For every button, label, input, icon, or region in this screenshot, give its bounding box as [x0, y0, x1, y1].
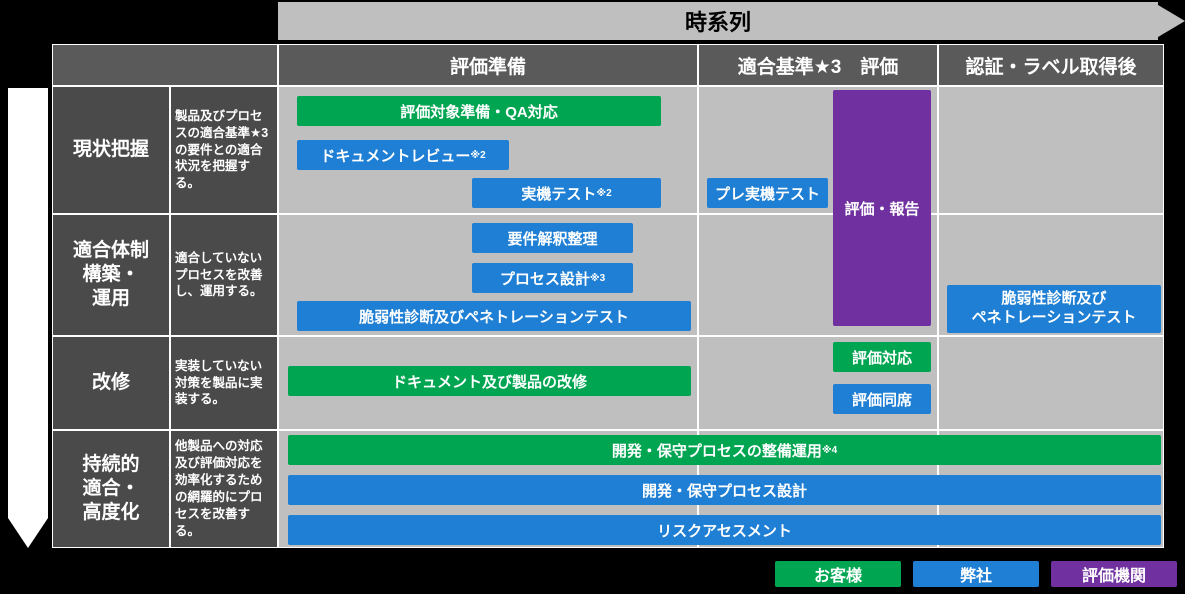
timeline-label: 時系列: [278, 2, 1158, 40]
bar-vulnerability-pentest[interactable]: 脆弱性診断及びペネトレーションテスト: [297, 301, 691, 331]
grid-cell-1-post: [938, 86, 1164, 214]
diagram-root: 時系列 フ ェ ー ズ 評価準備 適合基準★3 評価 認証・ラベル取得後 現状把…: [0, 0, 1185, 594]
bar-note: ※4: [822, 445, 837, 456]
bar-note: ※2: [470, 150, 485, 161]
bar-document-product-remediation[interactable]: ドキュメント及び製品の改修: [288, 366, 691, 396]
header-column-evaluation: 適合基準★3 評価: [698, 44, 938, 86]
phase-cell-3: 改修: [52, 336, 170, 430]
bar-label: プロセス設計: [500, 268, 590, 289]
bar-actual-machine-test[interactable]: 実機テスト※2: [472, 178, 661, 208]
phase-axis-label: フ ェ ー ズ: [12, 200, 42, 278]
bar-label: 評価対象準備・QA対応: [400, 101, 558, 122]
legend-label: 弊社: [960, 562, 992, 586]
bar-label: 脆弱性診断及び ペネトレーションテスト: [972, 290, 1137, 328]
phase-axis-arrow: [8, 88, 48, 548]
bar-label: 開発・保守プロセス設計: [642, 480, 807, 501]
header-column-post-certification: 認証・ラベル取得後: [938, 44, 1164, 86]
legend-label: お客様: [814, 562, 862, 586]
bar-vulnerability-pentest-post[interactable]: 脆弱性診断及び ペネトレーションテスト: [947, 285, 1161, 333]
bar-note: ※2: [596, 188, 611, 199]
bar-label: ドキュメント及び製品の改修: [392, 371, 587, 392]
bar-label: プレ実機テスト: [715, 183, 820, 204]
phase-cell-4: 持続的 適合・ 高度化: [52, 430, 170, 548]
grid-cell-3-post: [938, 336, 1164, 430]
bar-dev-maintenance-process-design[interactable]: 開発・保守プロセス設計: [288, 475, 1161, 505]
bar-qa-preparation[interactable]: 評価対象準備・QA対応: [297, 96, 661, 126]
bar-label: リスクアセスメント: [657, 520, 792, 541]
bar-label: 評価対応: [852, 347, 912, 368]
bar-label: 脆弱性診断及びペネトレーションテスト: [359, 306, 629, 327]
bar-requirement-interpretation[interactable]: 要件解釈整理: [472, 223, 633, 253]
legend-label: 評価機関: [1082, 562, 1146, 586]
description-cell-3: 実装していない対策を製品に実装する。: [170, 336, 278, 430]
bar-label: ドキュメントレビュー: [320, 145, 470, 166]
legend-our-company: 弊社: [913, 561, 1039, 587]
phase-cell-2: 適合体制 構築・ 運用: [52, 214, 170, 336]
bar-label: 実機テスト: [521, 183, 596, 204]
description-cell-4: 他製品への対応及び評価対応を効率化するための網羅的にプロセスを改善する。: [170, 430, 278, 548]
legend-customer: お客様: [775, 561, 901, 587]
bar-note: ※3: [590, 273, 605, 284]
bar-dev-maintenance-process-operation[interactable]: 開発・保守プロセスの整備運用※4: [288, 435, 1161, 465]
bar-risk-assessment[interactable]: リスクアセスメント: [288, 515, 1161, 545]
bar-label: 評価同席: [852, 389, 912, 410]
bar-evaluation-response[interactable]: 評価対応: [833, 342, 931, 372]
timeline-arrow: 時系列: [278, 2, 1185, 40]
description-cell-2: 適合していないプロセスを改善し、運用する。: [170, 214, 278, 336]
bar-process-design[interactable]: プロセス設計※3: [472, 263, 633, 293]
bar-evaluation-attendance[interactable]: 評価同席: [833, 384, 931, 414]
header-column-preparation: 評価準備: [278, 44, 698, 86]
bar-document-review[interactable]: ドキュメントレビュー※2: [297, 140, 509, 170]
phase-cell-1: 現状把握: [52, 86, 170, 214]
bar-label: 開発・保守プロセスの整備運用: [612, 440, 822, 461]
description-cell-1: 製品及びプロセスの適合基準★3の要件との適合状況を把握する。: [170, 86, 278, 214]
bar-label: 評価・報告: [844, 198, 919, 219]
header-corner-blank: [52, 44, 278, 86]
bar-evaluation-report[interactable]: 評価・報告: [833, 90, 931, 326]
legend-evaluation-body: 評価機関: [1051, 561, 1177, 587]
bar-pre-machine-test[interactable]: プレ実機テスト: [707, 178, 828, 208]
bar-label: 要件解釈整理: [507, 228, 597, 249]
